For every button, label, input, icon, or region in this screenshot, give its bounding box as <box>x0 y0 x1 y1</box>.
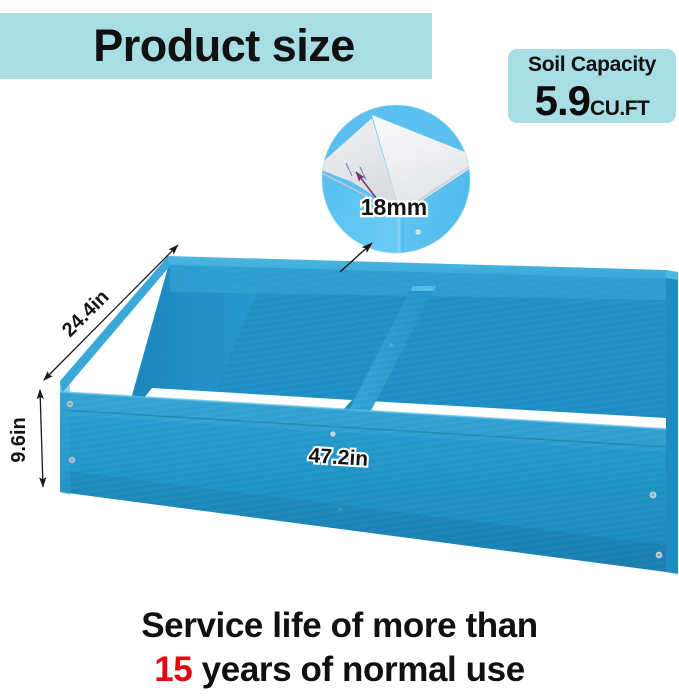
screw <box>330 431 335 436</box>
tagline-line-1: Service life of more than <box>0 604 679 648</box>
tagline-years-number: 15 <box>154 650 192 689</box>
dimension-line-height <box>40 390 43 487</box>
left-front-edge <box>60 381 70 495</box>
divider-screw <box>389 343 392 346</box>
screw <box>338 507 342 511</box>
detail-inset-circle: 18mm <box>312 103 482 272</box>
dimension-label-height: 9.6in <box>8 417 30 463</box>
planter-box-body <box>60 256 678 574</box>
tagline-line-2-rest: years of normal use <box>192 650 524 689</box>
footer-tagline: Service life of more than 15 years of no… <box>0 604 679 692</box>
right-outer-wall <box>666 274 678 574</box>
product-illustration: 24.4in 9.6in 47.2in <box>0 0 679 600</box>
dimension-label-length: 47.2in <box>308 444 369 471</box>
tagline-line-2: 15 years of normal use <box>0 648 679 692</box>
center-divider-top-edge <box>411 286 436 291</box>
thickness-label: 18mm <box>361 194 427 220</box>
